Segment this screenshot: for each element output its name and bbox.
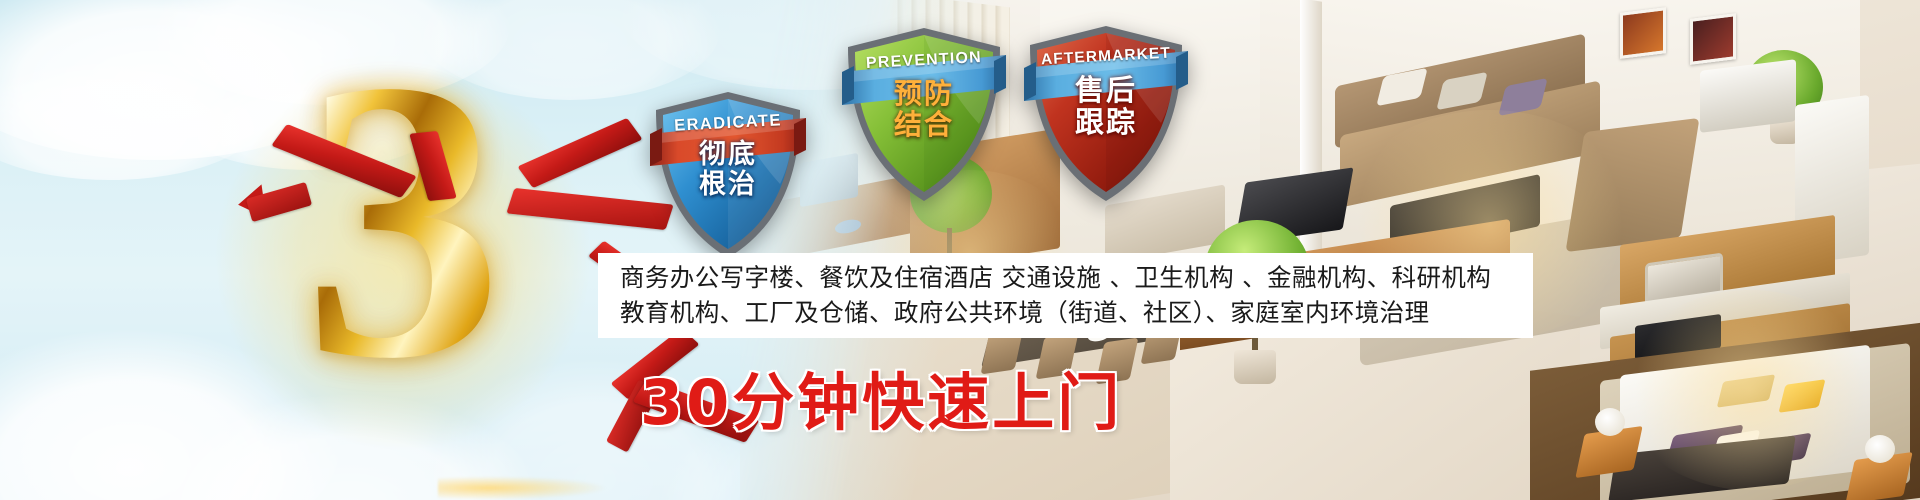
shield-green-icon <box>840 24 1008 206</box>
promo-banner: 3 <box>0 0 1920 500</box>
headline-30-minute-service: 30分钟快速上门 <box>640 352 1122 442</box>
shield-red-icon <box>1022 22 1190 206</box>
gold-sparkle <box>438 476 608 500</box>
numeral-3-text: 3 <box>238 20 568 420</box>
service-scope-panel: 商务办公写字楼、餐饮及住宿酒店 交通设施 、卫生机构 、金融机构、科研机构 教育… <box>598 253 1533 338</box>
service-scope-line-1: 商务办公写字楼、餐饮及住宿酒店 交通设施 、卫生机构 、金融机构、科研机构 <box>620 261 1511 296</box>
badge-aftermarket: AFTERMARKET 售后 跟踪 <box>1022 22 1190 206</box>
service-scope-line-2: 教育机构、工厂及仓储、政府公共环境（街道、社区）、家庭室内环境治理 <box>620 296 1511 331</box>
shield-blue-icon <box>648 88 808 263</box>
badge-prevention: PREVENTION 预防 结合 <box>840 24 1008 206</box>
badge-eradicate: ERADICATE 彻底 根治 <box>648 88 808 263</box>
